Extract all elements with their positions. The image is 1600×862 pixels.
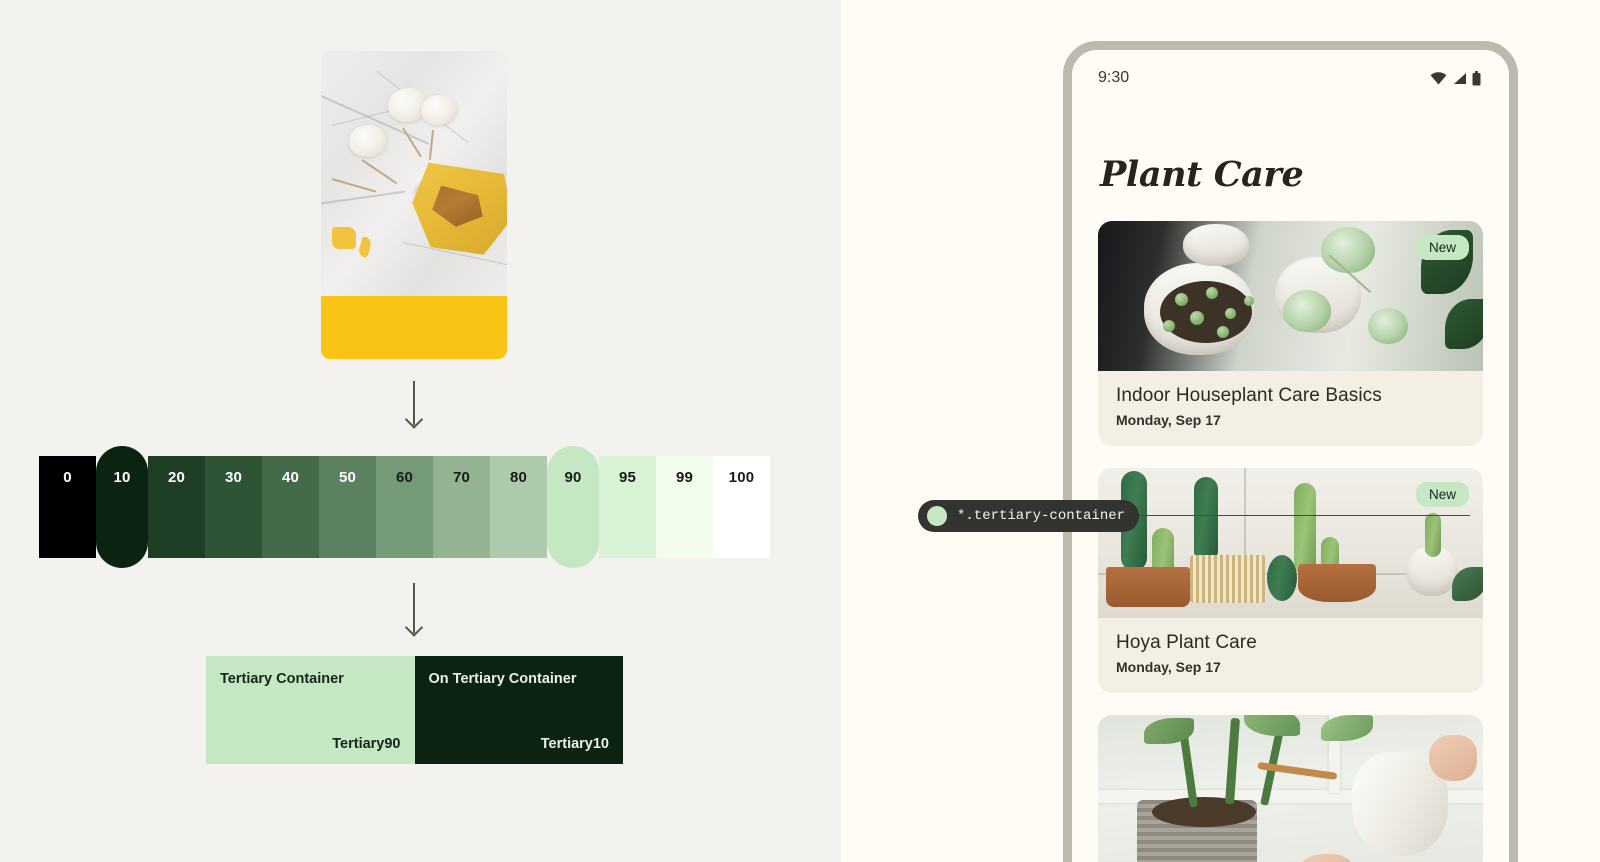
tone-label: 40 bbox=[282, 469, 299, 558]
extracted-seed-swatch bbox=[321, 296, 507, 359]
tone-label: 100 bbox=[729, 469, 755, 558]
status-bar: 9:30 bbox=[1072, 50, 1509, 106]
tone-label: 60 bbox=[396, 469, 413, 558]
tone-label: 90 bbox=[564, 469, 581, 568]
list-item[interactable] bbox=[1098, 715, 1483, 862]
tone-swatch-50[interactable]: 50 bbox=[319, 456, 376, 558]
tone-swatch-70[interactable]: 70 bbox=[433, 456, 490, 558]
watering-photo bbox=[1098, 715, 1483, 862]
battery-icon bbox=[1472, 71, 1481, 86]
tone-label: 95 bbox=[619, 469, 636, 558]
list-item[interactable]: New Indoor Houseplant Care Basics Monday… bbox=[1098, 221, 1483, 446]
tone-swatch-20[interactable]: 20 bbox=[148, 456, 205, 558]
tone-label: 80 bbox=[510, 469, 527, 558]
list-item[interactable]: New Hoya Plant Care Monday, Sep 17 bbox=[1098, 468, 1483, 693]
role-swatch[interactable]: Tertiary ContainerTertiary90 bbox=[206, 656, 415, 764]
role-swatch[interactable]: On Tertiary ContainerTertiary10 bbox=[415, 656, 624, 764]
tone-label: 70 bbox=[453, 469, 470, 558]
tertiary-role-swatches: Tertiary ContainerTertiary90On Tertiary … bbox=[206, 656, 623, 764]
status-badge: New bbox=[1416, 482, 1469, 507]
tooltip-color-swatch bbox=[927, 506, 947, 526]
card-body: Hoya Plant Care Monday, Sep 17 bbox=[1098, 618, 1483, 693]
status-time: 9:30 bbox=[1098, 69, 1129, 87]
cellular-signal-icon bbox=[1452, 72, 1467, 85]
color-extraction-panel: 01020304050607080909599100 Tertiary Cont… bbox=[0, 0, 841, 862]
card-date: Monday, Sep 17 bbox=[1116, 412, 1465, 428]
role-name: Tertiary Container bbox=[220, 671, 401, 687]
card-title: Indoor Houseplant Care Basics bbox=[1116, 385, 1465, 407]
tone-swatch-10[interactable]: 10 bbox=[96, 446, 148, 568]
extract-arrow-2 bbox=[413, 583, 415, 633]
app-preview-panel: 9:30 Plant Care bbox=[841, 0, 1600, 862]
tone-swatch-30[interactable]: 30 bbox=[205, 456, 262, 558]
token-tooltip: *.tertiary-container bbox=[918, 500, 1139, 532]
tooltip-label: *.tertiary-container bbox=[957, 508, 1125, 524]
card-title: Hoya Plant Care bbox=[1116, 632, 1465, 654]
tertiary-tonal-palette: 01020304050607080909599100 bbox=[39, 456, 770, 558]
tone-swatch-95[interactable]: 95 bbox=[599, 456, 656, 558]
source-image-card bbox=[321, 51, 507, 359]
tone-swatch-99[interactable]: 99 bbox=[656, 456, 713, 558]
card-media: New bbox=[1098, 221, 1483, 371]
tone-swatch-100[interactable]: 100 bbox=[713, 456, 770, 558]
role-name: On Tertiary Container bbox=[429, 671, 610, 687]
plant-care-card-list: New Indoor Houseplant Care Basics Monday… bbox=[1072, 221, 1509, 862]
phone-frame: 9:30 Plant Care bbox=[1063, 41, 1518, 862]
role-token: Tertiary90 bbox=[220, 736, 401, 752]
source-photo bbox=[321, 51, 507, 296]
card-media: New bbox=[1098, 468, 1483, 618]
tone-swatch-60[interactable]: 60 bbox=[376, 456, 433, 558]
screenshot-root: 01020304050607080909599100 Tertiary Cont… bbox=[0, 0, 1600, 862]
phone-screen: 9:30 Plant Care bbox=[1072, 50, 1509, 862]
card-media bbox=[1098, 715, 1483, 862]
page-title: Plant Care bbox=[1072, 106, 1509, 195]
tone-label: 30 bbox=[225, 469, 242, 558]
tone-label: 10 bbox=[113, 469, 130, 568]
tone-label: 50 bbox=[339, 469, 356, 558]
card-date: Monday, Sep 17 bbox=[1116, 659, 1465, 675]
tone-swatch-40[interactable]: 40 bbox=[262, 456, 319, 558]
status-badge: New bbox=[1416, 235, 1469, 260]
card-body: Indoor Houseplant Care Basics Monday, Se… bbox=[1098, 371, 1483, 446]
tone-swatch-80[interactable]: 80 bbox=[490, 456, 547, 558]
extract-arrow-1 bbox=[413, 381, 415, 425]
tone-swatch-90[interactable]: 90 bbox=[547, 446, 599, 568]
wifi-icon bbox=[1430, 72, 1447, 85]
role-token: Tertiary10 bbox=[429, 736, 610, 752]
tooltip-connector-line bbox=[1115, 515, 1470, 516]
tone-label: 0 bbox=[63, 469, 72, 558]
tone-label: 20 bbox=[168, 469, 185, 558]
tone-swatch-0[interactable]: 0 bbox=[39, 456, 96, 558]
status-icons bbox=[1430, 71, 1481, 86]
tone-label: 99 bbox=[676, 469, 693, 558]
